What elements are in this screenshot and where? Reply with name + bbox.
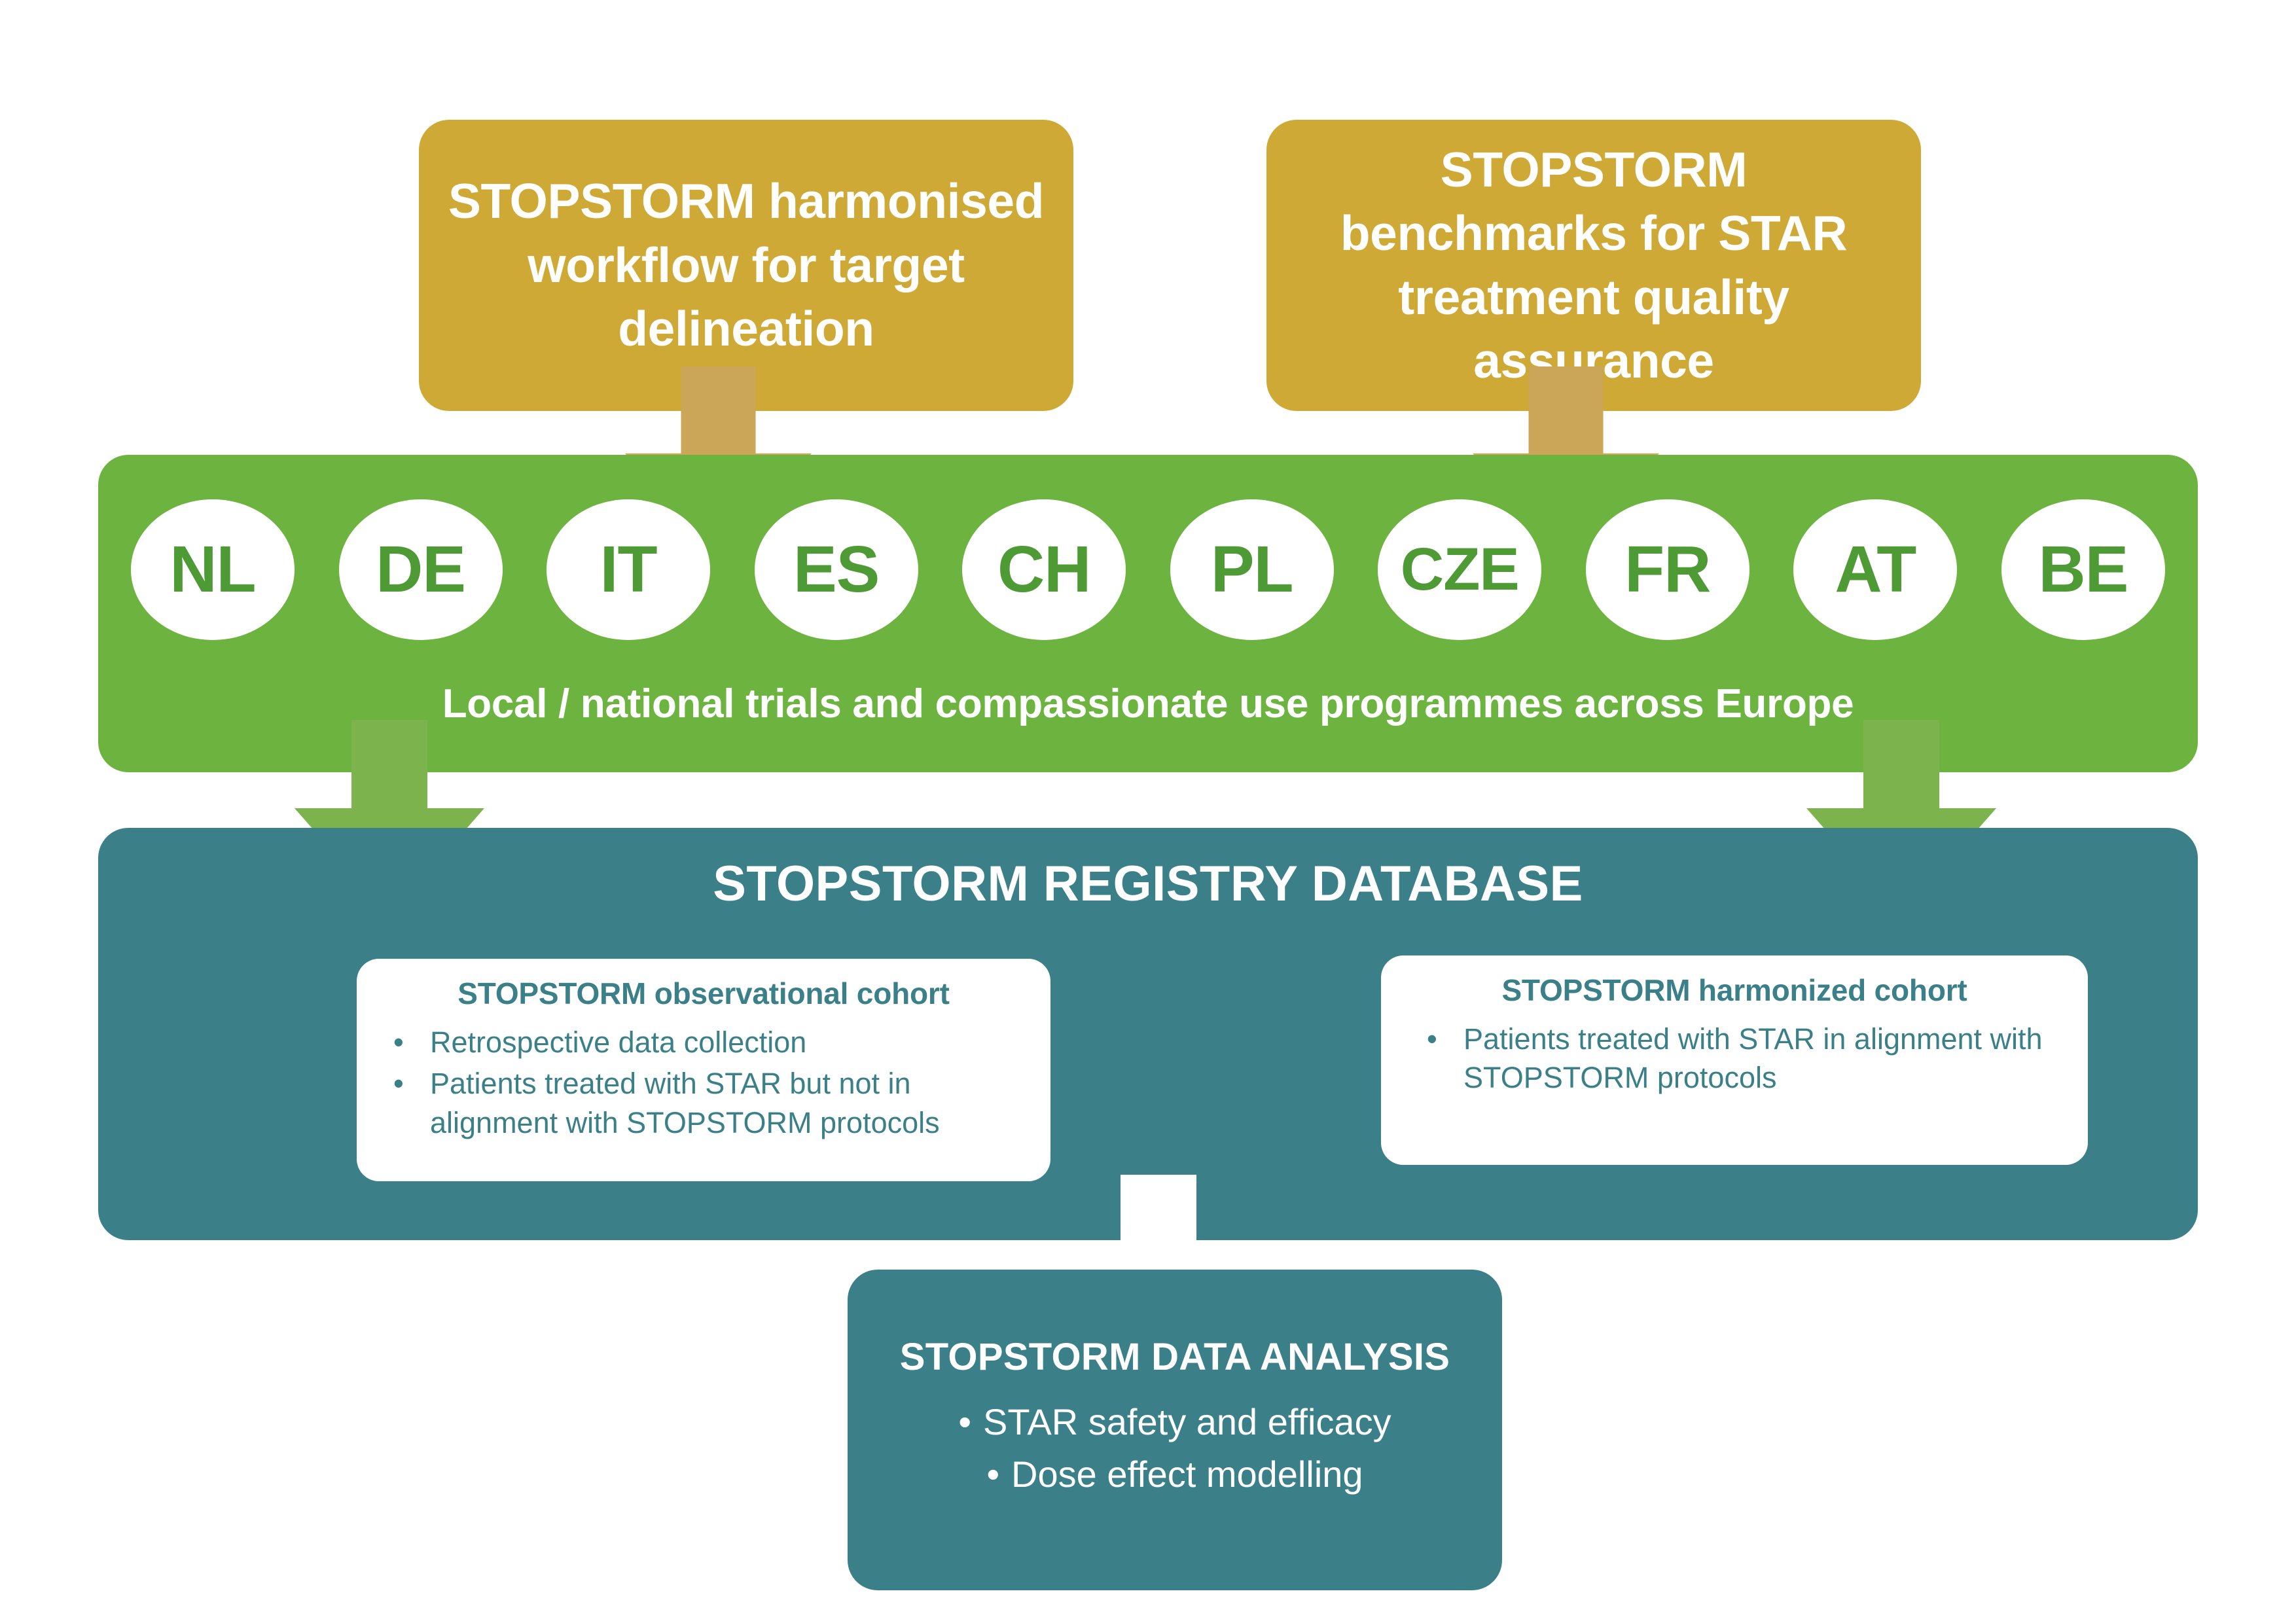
country-label: NL xyxy=(170,532,255,607)
cohort-title-observational: STOPSTORM observational cohort xyxy=(379,976,1028,1011)
cohort-card-observational[interactable]: STOPSTORM observational cohort • Retrosp… xyxy=(357,959,1050,1181)
cohort-bullet-list-observational: • Retrospective data collection • Patien… xyxy=(379,1023,1028,1142)
list-item-text: Patients treated with STAR in alignment … xyxy=(1463,1022,2043,1094)
country-oval-at[interactable]: AT xyxy=(1793,499,1957,640)
bullet-icon: • xyxy=(393,1064,404,1103)
diagram-canvas: STOPSTORM harmonised workflow for target… xyxy=(0,0,2296,1623)
list-item: • Retrospective data collection xyxy=(379,1023,1028,1061)
gold-box-2-label: STOPSTORM benchmarks for STAR treatment … xyxy=(1293,138,1895,393)
country-oval-it[interactable]: IT xyxy=(547,499,710,640)
country-oval-pl[interactable]: PL xyxy=(1170,499,1334,640)
country-oval-nl[interactable]: NL xyxy=(131,499,295,640)
country-label: AT xyxy=(1835,532,1916,607)
country-oval-ch[interactable]: CH xyxy=(962,499,1126,640)
data-analysis-panel[interactable]: STOPSTORM DATA ANALYSIS •STAR safety and… xyxy=(848,1270,1502,1590)
country-oval-es[interactable]: ES xyxy=(755,499,918,640)
country-oval-cze[interactable]: CZE xyxy=(1378,499,1541,640)
country-oval-be[interactable]: BE xyxy=(2001,499,2165,640)
cohort-card-harmonized[interactable]: STOPSTORM harmonized cohort • Patients t… xyxy=(1381,955,2088,1165)
list-item-text: STAR safety and efficacy xyxy=(983,1401,1391,1442)
country-label: CH xyxy=(997,532,1090,607)
registry-database-title: STOPSTORM REGISTRY DATABASE xyxy=(98,855,2198,912)
bullet-icon: • xyxy=(986,1454,999,1495)
cohort-bullet-list-harmonized: • Patients treated with STAR in alignmen… xyxy=(1403,1020,2066,1097)
country-oval-de[interactable]: DE xyxy=(339,499,503,640)
list-item: • Patients treated with STAR but not in … xyxy=(379,1064,1028,1142)
bullet-icon: • xyxy=(393,1023,404,1061)
list-item-text: Retrospective data collection xyxy=(430,1026,806,1059)
data-analysis-bullet-list: •STAR safety and efficacy •Dose effect m… xyxy=(933,1396,1417,1500)
list-item: •STAR safety and efficacy xyxy=(933,1396,1417,1448)
country-label: CZE xyxy=(1401,535,1519,604)
country-label: DE xyxy=(376,532,465,607)
country-label: FR xyxy=(1624,532,1710,607)
bullet-icon: • xyxy=(958,1401,971,1442)
cohort-title-harmonized: STOPSTORM harmonized cohort xyxy=(1403,972,2066,1008)
list-item-text: Patients treated with STAR but not in al… xyxy=(430,1067,940,1139)
bullet-icon: • xyxy=(1427,1020,1437,1058)
gold-box-1-label: STOPSTORM harmonised workflow for target… xyxy=(445,169,1047,361)
list-item: • Patients treated with STAR in alignmen… xyxy=(1403,1020,2066,1097)
data-analysis-title: STOPSTORM DATA ANALYSIS xyxy=(848,1335,1502,1379)
country-oval-row: NL DE IT ES CH PL CZE FR AT BE xyxy=(131,494,2165,645)
list-item: •Dose effect modelling xyxy=(933,1448,1417,1501)
list-item-text: Dose effect modelling xyxy=(1011,1454,1363,1495)
country-label: BE xyxy=(2038,532,2128,607)
country-label: IT xyxy=(600,532,657,607)
country-label: ES xyxy=(793,532,879,607)
country-oval-fr[interactable]: FR xyxy=(1586,499,1749,640)
country-label: PL xyxy=(1211,532,1293,607)
